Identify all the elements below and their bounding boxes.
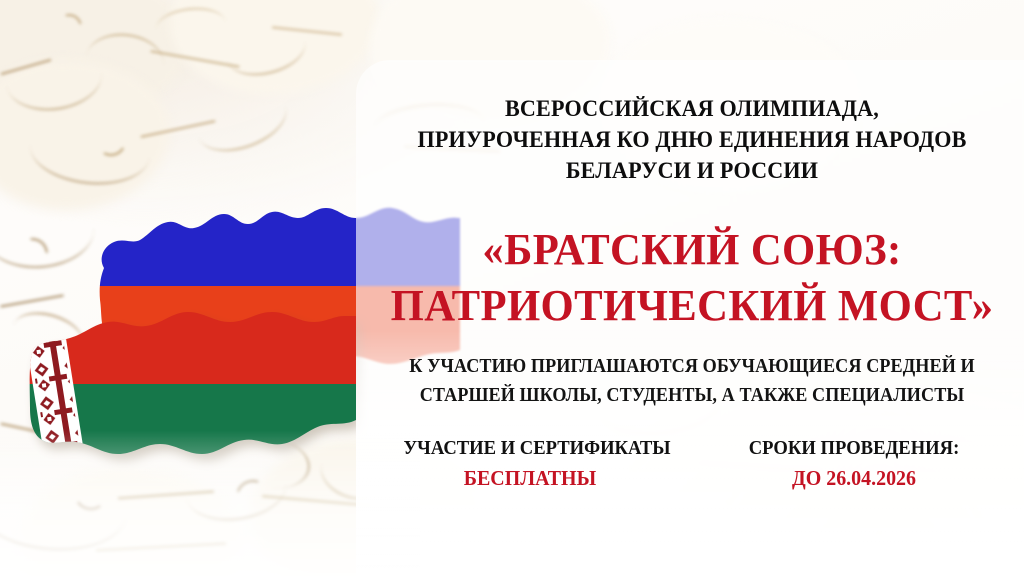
- event-title: «БРАТСКИЙ СОЮЗ: ПАТРИОТИЧЕСКИЙ МОСТ»: [372, 222, 1012, 334]
- footer-block: УЧАСТИЕ И СЕРТИФИКАТЫ БЕСПЛАТНЫ СРОКИ ПР…: [372, 434, 1012, 493]
- poster-content: ВСЕРОССИЙСКАЯ ОЛИМПИАДА, ПРИУРОЧЕННАЯ КО…: [372, 0, 1012, 576]
- headline-line-1: ВСЕРОССИЙСКАЯ ОЛИМПИАДА,: [391, 94, 993, 125]
- audience-block: К УЧАСТИЮ ПРИГЛАШАЮТСЯ ОБУЧАЮЩИЕСЯ СРЕДН…: [372, 352, 1012, 410]
- artwork-bottom-fade: [0, 430, 420, 576]
- participation-value: БЕСПЛАТНЫ: [401, 463, 659, 493]
- dates-value: ДО 26.04.2026: [725, 463, 983, 493]
- audience-line-1: К УЧАСТИЮ ПРИГЛАШАЮТСЯ ОБУЧАЮЩИЕСЯ СРЕДН…: [394, 352, 989, 381]
- participation-label: УЧАСТИЕ И СЕРТИФИКАТЫ: [404, 434, 657, 463]
- headline-line-3: БЕЛАРУСИ И РОССИИ: [391, 156, 993, 187]
- dates-column: СРОКИ ПРОВЕДЕНИЯ: ДО 26.04.2026: [718, 434, 990, 493]
- poster-canvas: ВСЕРОССИЙСКАЯ ОЛИМПИАДА, ПРИУРОЧЕННАЯ КО…: [0, 0, 1024, 576]
- participation-column: УЧАСТИЕ И СЕРТИФИКАТЫ БЕСПЛАТНЫ: [394, 434, 666, 493]
- event-title-line-1: «БРАТСКИЙ СОЮЗ:: [382, 222, 1003, 278]
- audience-line-2: СТАРШЕЙ ШКОЛЫ, СТУДЕНТЫ, А ТАКЖЕ СПЕЦИАЛ…: [394, 381, 989, 410]
- headline-line-2: ПРИУРОЧЕННАЯ КО ДНЮ ЕДИНЕНИЯ НАРОДОВ: [391, 125, 993, 156]
- dates-label: СРОКИ ПРОВЕДЕНИЯ:: [728, 434, 981, 463]
- event-title-line-2: ПАТРИОТИЧЕСКИЙ МОСТ»: [382, 278, 1003, 334]
- headline-block: ВСЕРОССИЙСКАЯ ОЛИМПИАДА, ПРИУРОЧЕННАЯ КО…: [372, 94, 1012, 187]
